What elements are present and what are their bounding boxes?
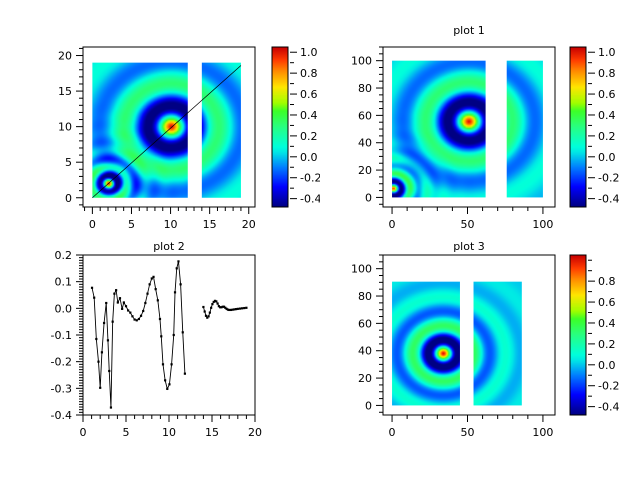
y-tick-label: 0 xyxy=(365,191,372,204)
plot-top-left[interactable]: 05101520051015201.00.80.60.40.20.0-0.2-0… xyxy=(0,0,320,240)
data-point xyxy=(144,302,146,304)
x-tick-label: 10 xyxy=(162,426,176,439)
data-point xyxy=(170,363,172,365)
y-tick-label: 40 xyxy=(358,137,372,150)
data-point xyxy=(93,297,95,299)
data-point xyxy=(125,305,127,307)
colorbar-tick-label: 0.0 xyxy=(598,359,616,372)
data-point xyxy=(119,297,121,299)
data-point xyxy=(134,318,136,320)
colorbar-tick-label: 0.2 xyxy=(300,130,318,143)
colorbar-tick-label: -0.4 xyxy=(300,193,320,206)
colorbar-tick-label: -0.2 xyxy=(598,172,619,185)
data-point xyxy=(159,318,161,320)
colorbar-tick-label: -0.4 xyxy=(598,193,619,206)
colorbar-tick-label: 0.0 xyxy=(300,151,318,164)
figure-canvas: 05101520051015201.00.80.60.40.20.0-0.2-0… xyxy=(0,0,640,480)
panel-bottom-right: plot 3 0501000204060801000.80.60.40.20.0… xyxy=(320,240,640,480)
data-point xyxy=(243,307,245,309)
y-tick-label: 100 xyxy=(351,263,372,276)
data-point xyxy=(157,299,159,301)
data-point xyxy=(164,379,166,381)
colorbar-tick-label: 0.2 xyxy=(598,338,616,351)
colorbar-tick-label: 0.2 xyxy=(598,130,616,143)
panel-bottom-left: plot 2 051015200.20.10.0-0.1-0.2-0.3-0.4 xyxy=(0,240,320,480)
y-tick-label: 20 xyxy=(58,50,72,63)
x-tick-label: 0 xyxy=(89,218,96,231)
data-point xyxy=(91,287,93,289)
data-point xyxy=(110,406,112,408)
colorbar-tick-label: 0.6 xyxy=(598,296,616,309)
data-point xyxy=(176,267,178,269)
data-point xyxy=(184,373,186,375)
data-point xyxy=(202,306,204,308)
y-tick-label: 60 xyxy=(358,317,372,330)
data-point xyxy=(142,310,144,312)
y-tick-label: 5 xyxy=(65,156,72,169)
data-point xyxy=(121,308,123,310)
y-tick-label: 15 xyxy=(58,85,72,98)
data-point xyxy=(155,288,157,290)
y-tick-label: 40 xyxy=(358,345,372,358)
data-point xyxy=(180,283,182,285)
heatmap-block xyxy=(474,282,522,406)
x-tick-label: 0 xyxy=(389,426,396,439)
x-tick-label: 0 xyxy=(80,426,87,439)
y-tick-label: 0.1 xyxy=(55,276,73,289)
data-point xyxy=(123,301,125,303)
y-tick-label: 20 xyxy=(358,164,372,177)
colorbar-tick-label: 0.4 xyxy=(300,109,318,122)
colorbar-tick-label: 0.8 xyxy=(598,67,616,80)
heatmap-block xyxy=(392,282,460,406)
x-tick-label: 15 xyxy=(205,426,219,439)
colorbar-tick-label: -0.4 xyxy=(598,401,619,414)
plot-bottom-left[interactable]: 051015200.20.10.0-0.1-0.2-0.3-0.4 xyxy=(0,240,320,480)
data-point xyxy=(105,302,107,304)
data-point xyxy=(239,308,241,310)
data-point xyxy=(115,289,117,291)
y-tick-label: 10 xyxy=(58,121,72,134)
data-point xyxy=(103,322,105,324)
data-point xyxy=(149,283,151,285)
y-tick-label: -0.3 xyxy=(51,382,72,395)
data-point xyxy=(152,276,154,278)
y-tick-label: 0 xyxy=(365,399,372,412)
colorbar-tick-label: 0.8 xyxy=(300,67,318,80)
x-tick-label: 5 xyxy=(128,218,135,231)
y-tick-label: 0 xyxy=(65,192,72,205)
y-tick-label: 0.0 xyxy=(55,302,73,315)
colorbar-tick-label: 0.4 xyxy=(598,317,616,330)
y-tick-label: -0.4 xyxy=(51,409,72,422)
data-point xyxy=(131,315,133,317)
colorbar-tick-label: 0.4 xyxy=(598,109,616,122)
data-point xyxy=(129,312,131,314)
y-tick-label: 0.2 xyxy=(55,249,73,262)
y-tick-label: 60 xyxy=(358,109,372,122)
heatmap-block xyxy=(392,61,486,198)
plot-bottom-right[interactable]: 0501000204060801000.80.60.40.20.0-0.2-0.… xyxy=(320,240,640,480)
data-point xyxy=(146,293,148,295)
colorbar-tick-label: 0.6 xyxy=(598,88,616,101)
data-point xyxy=(113,293,115,295)
data-point xyxy=(173,334,175,336)
data-point xyxy=(107,339,109,341)
data-point xyxy=(215,300,217,302)
data-point xyxy=(138,318,140,320)
data-point xyxy=(117,301,119,303)
data-point xyxy=(140,315,142,317)
colorbar-tick-label: 0.8 xyxy=(598,275,616,288)
data-point xyxy=(207,315,209,317)
x-tick-label: 15 xyxy=(203,218,217,231)
colorbar-tick-label: 0.0 xyxy=(598,151,616,164)
y-tick-label: 100 xyxy=(351,55,372,68)
x-tick-label: 0 xyxy=(389,218,396,231)
data-point xyxy=(162,363,164,365)
x-tick-label: 20 xyxy=(248,426,262,439)
colorbar-tick-label: 0.6 xyxy=(300,88,318,101)
colorbar-tick-label: -0.2 xyxy=(598,380,619,393)
data-point xyxy=(101,351,103,353)
x-tick-label: 5 xyxy=(123,426,130,439)
x-tick-label: 50 xyxy=(460,426,474,439)
panel-bottom-left-title: plot 2 xyxy=(83,240,255,253)
y-tick-label: 80 xyxy=(358,82,372,95)
y-tick-label: -0.1 xyxy=(51,329,72,342)
data-point xyxy=(241,307,243,309)
colorbar-gradient xyxy=(272,47,288,207)
data-point xyxy=(237,308,239,310)
panel-top-right: plot 1 0501000204060801001.00.80.60.40.2… xyxy=(320,0,640,240)
data-point xyxy=(136,319,138,321)
data-point xyxy=(108,370,110,372)
data-point xyxy=(204,310,206,312)
data-point xyxy=(166,388,168,390)
heatmap-block xyxy=(507,61,543,198)
data-point xyxy=(209,312,211,314)
data-point xyxy=(99,387,101,389)
data-point xyxy=(127,309,129,311)
data-point xyxy=(211,303,213,305)
x-tick-label: 100 xyxy=(532,426,553,439)
x-tick-label: 100 xyxy=(532,218,553,231)
panel-top-right-title: plot 1 xyxy=(383,24,555,37)
data-point xyxy=(177,260,179,262)
axis-frame xyxy=(83,255,255,415)
data-point xyxy=(182,331,184,333)
data-point xyxy=(174,291,176,293)
data-point xyxy=(168,383,170,385)
y-tick-label: 80 xyxy=(358,290,372,303)
y-tick-label: -0.2 xyxy=(51,356,72,369)
y-tick-label: 20 xyxy=(358,372,372,385)
data-point xyxy=(160,335,162,337)
data-point xyxy=(112,321,114,323)
data-point xyxy=(245,307,247,309)
colorbar-tick-label: -0.2 xyxy=(300,172,320,185)
colorbar-gradient xyxy=(570,47,586,207)
x-tick-label: 10 xyxy=(164,218,178,231)
data-point xyxy=(216,302,218,304)
panel-top-left: 05101520051015201.00.80.60.40.20.0-0.2-0… xyxy=(0,0,320,240)
data-point xyxy=(210,307,212,309)
panel-bottom-right-title: plot 3 xyxy=(383,240,555,253)
heatmap-block xyxy=(92,63,187,198)
data-point xyxy=(97,361,99,363)
x-tick-label: 50 xyxy=(460,218,474,231)
colorbar-tick-label: 1.0 xyxy=(300,46,318,59)
data-point xyxy=(95,338,97,340)
colorbar-gradient xyxy=(570,255,586,415)
colorbar-tick-label: 1.0 xyxy=(598,46,616,59)
x-tick-label: 20 xyxy=(242,218,256,231)
line-segment-1 xyxy=(92,261,185,407)
